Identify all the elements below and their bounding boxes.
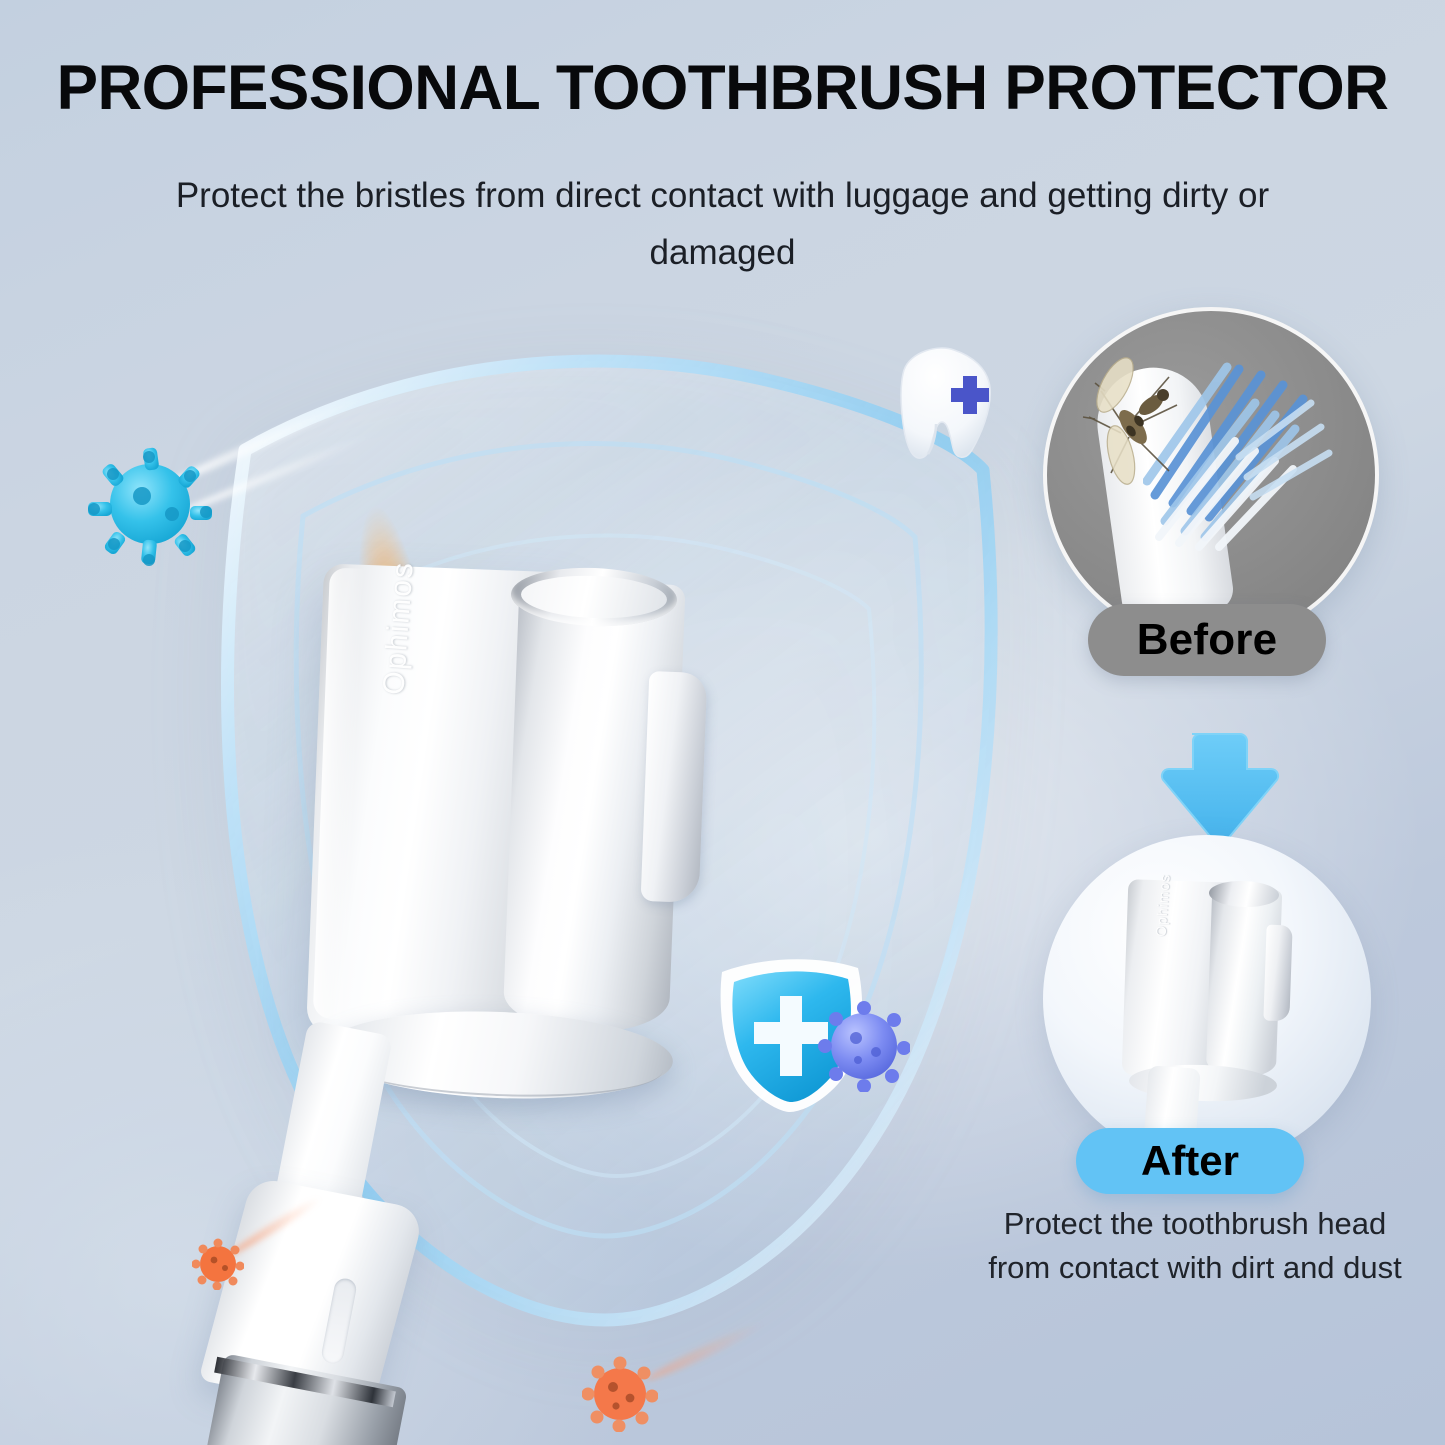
virus-icon <box>86 440 214 568</box>
after-caption-line-2: from contact with dirt and dust <box>970 1246 1420 1290</box>
after-brand-logo: Ophimos <box>1152 873 1172 937</box>
virus-icon <box>818 1000 910 1092</box>
page-title: PROFESSIONAL TOOTHBRUSH PROTECTOR <box>11 52 1434 124</box>
poster-canvas: PROFESSIONAL TOOTHBRUSH PROTECTOR Protec… <box>0 0 1445 1445</box>
mosquito-icon <box>1065 347 1215 497</box>
germ-icon <box>192 1238 244 1290</box>
before-image <box>1043 307 1379 643</box>
after-caption: Protect the toothbrush head from contact… <box>970 1202 1420 1290</box>
page-subtitle: Protect the bristles from direct contact… <box>150 168 1295 281</box>
after-image: Ophimos <box>1043 835 1371 1163</box>
before-badge: Before <box>1088 604 1326 676</box>
arrow-down-icon <box>1140 726 1292 848</box>
cap-clip <box>641 671 708 903</box>
germ-icon <box>582 1356 658 1432</box>
tooth-icon <box>876 340 1006 468</box>
after-caption-line-1: Protect the toothbrush head <box>970 1202 1420 1246</box>
after-cap-clip <box>1263 925 1292 1022</box>
brand-logo: Ophimos <box>377 560 421 696</box>
product-cap: Ophimos <box>315 560 755 1100</box>
after-badge: After <box>1076 1128 1304 1194</box>
after-product-cap: Ophimos <box>1125 877 1315 1093</box>
